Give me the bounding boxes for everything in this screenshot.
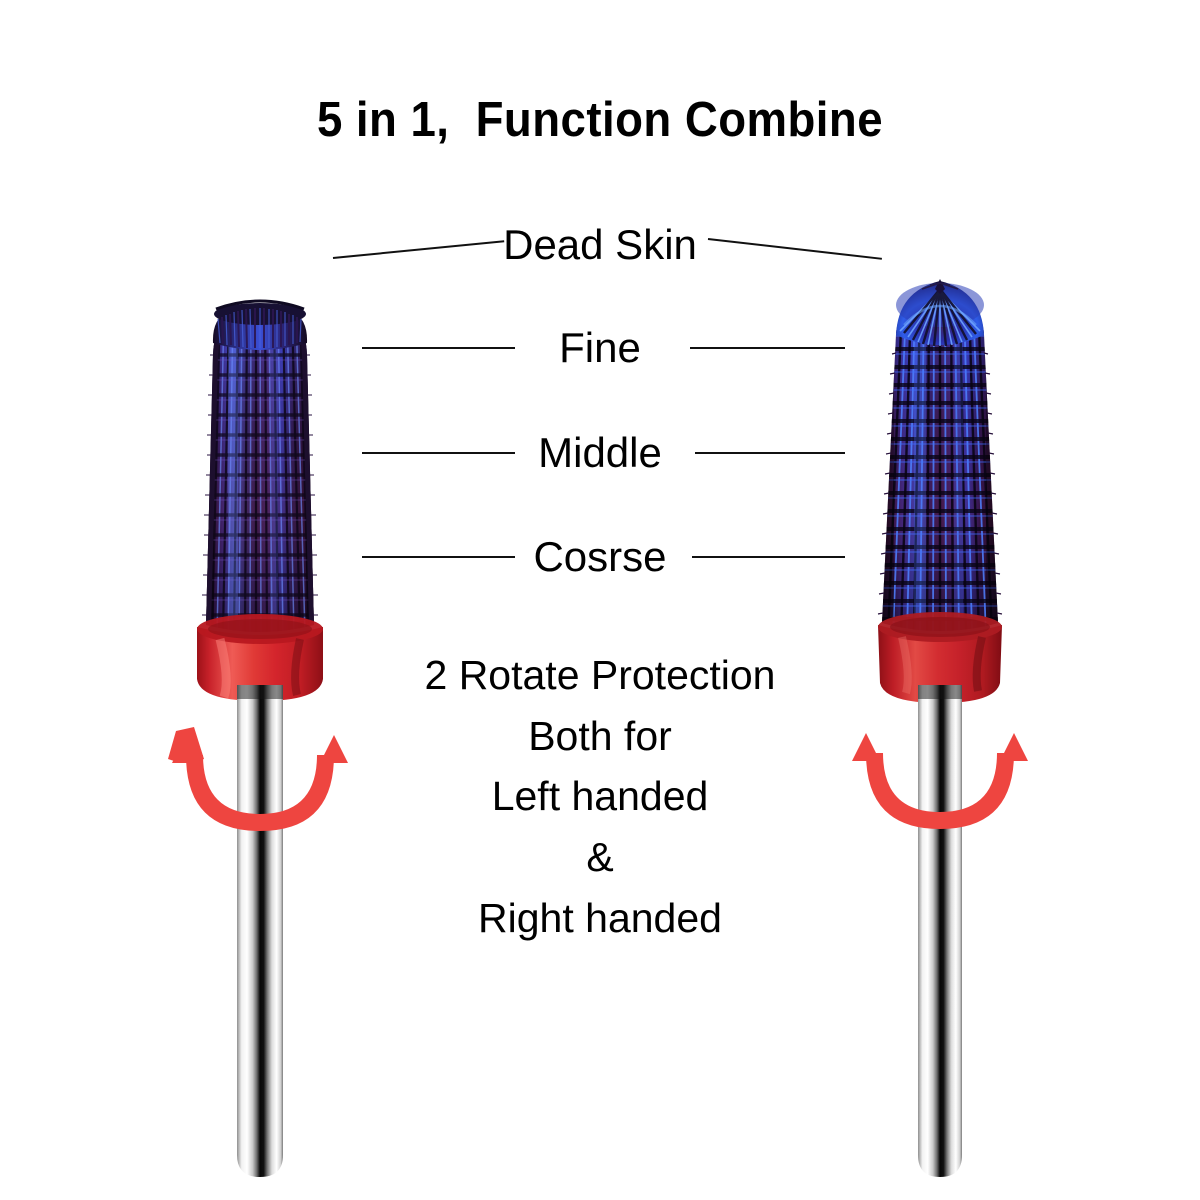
left-bit-head bbox=[200, 301, 320, 641]
leader-line-fine-left bbox=[362, 347, 515, 349]
leader-line-fine-right bbox=[690, 347, 845, 349]
center-line-4: & bbox=[370, 827, 830, 888]
center-line-5: Right handed bbox=[370, 888, 830, 949]
leader-line-middle-right bbox=[695, 452, 845, 454]
page-title: 5 in 1, Function Combine bbox=[42, 92, 1158, 148]
leader-line-middle-left bbox=[362, 452, 515, 454]
callout-label-cosrse: Cosrse bbox=[533, 536, 666, 578]
product-infographic: 5 in 1, Function Combine bbox=[0, 0, 1200, 1200]
rotate-protection-text: 2 Rotate Protection Both for Left handed… bbox=[370, 645, 830, 948]
callout-label-middle: Middle bbox=[538, 432, 662, 474]
center-line-3: Left handed bbox=[370, 766, 830, 827]
left-drill-bit bbox=[150, 215, 370, 1200]
right-bit-dome-top bbox=[896, 279, 984, 346]
right-drill-bit bbox=[830, 205, 1050, 1200]
right-bit-head bbox=[876, 279, 1004, 643]
leader-line-cosrse-right bbox=[692, 556, 845, 558]
left-bit-shank bbox=[237, 685, 283, 1177]
center-line-2: Both for bbox=[370, 706, 830, 767]
callout-label-dead-skin: Dead Skin bbox=[503, 224, 697, 266]
callout-label-fine: Fine bbox=[559, 327, 641, 369]
leader-line-cosrse-left bbox=[362, 556, 515, 558]
right-bit-shank bbox=[918, 685, 962, 1177]
center-line-1: 2 Rotate Protection bbox=[370, 645, 830, 706]
